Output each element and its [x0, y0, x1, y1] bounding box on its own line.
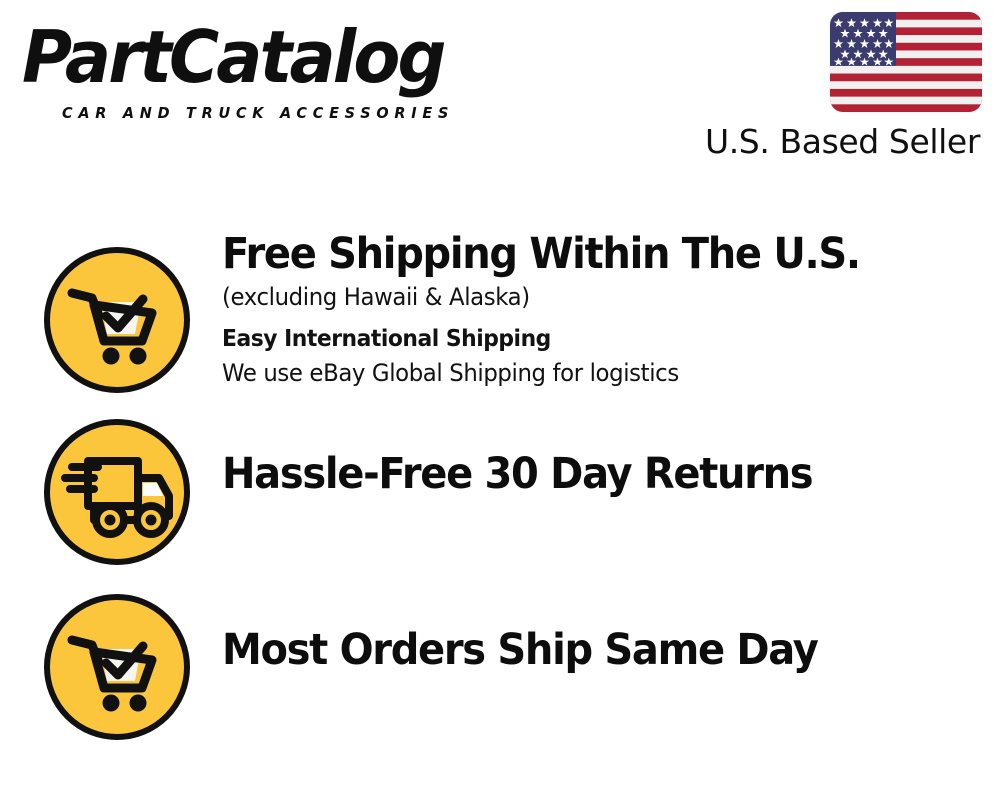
- shopping-cart-check-icon: [41, 591, 193, 743]
- feature-row: Hassle-Free 30 Day Returns: [0, 410, 1000, 570]
- brand-logo: PartCatalog CAR AND TRUCK ACCESSORIES: [22, 18, 492, 114]
- feature-row: Free Shipping Within The U.S. (excluding…: [0, 228, 1000, 408]
- us-based-seller-label: U.S. Based Seller: [705, 122, 980, 162]
- feature-subline: We use eBay Global Shipping for logistic…: [222, 356, 942, 390]
- feature-subline-bold: Easy International Shipping: [222, 323, 942, 356]
- feature-row: Most Orders Ship Same Day: [0, 580, 1000, 745]
- feature-text-block: Most Orders Ship Same Day: [222, 624, 980, 676]
- delivery-truck-icon: [41, 416, 193, 568]
- feature-text-block: Free Shipping Within The U.S. (excluding…: [222, 228, 980, 390]
- us-based-seller-badge: U.S. Based Seller: [710, 10, 990, 160]
- spacer: [222, 314, 980, 323]
- feature-headline: Most Orders Ship Same Day: [222, 624, 927, 676]
- seller-info-banner: PartCatalog CAR AND TRUCK ACCESSORIES: [0, 0, 1000, 800]
- us-flag-icon: [830, 12, 982, 112]
- brand-wordmark: PartCatalog: [22, 18, 444, 96]
- brand-tagline: CAR AND TRUCK ACCESSORIES: [62, 104, 454, 122]
- feature-headline: Hassle-Free 30 Day Returns: [222, 448, 927, 500]
- feature-headline: Free Shipping Within The U.S.: [222, 228, 927, 280]
- shopping-cart-check-icon: [41, 244, 193, 396]
- feature-subline: (excluding Hawaii & Alaska): [222, 280, 942, 314]
- feature-text-block: Hassle-Free 30 Day Returns: [222, 448, 980, 500]
